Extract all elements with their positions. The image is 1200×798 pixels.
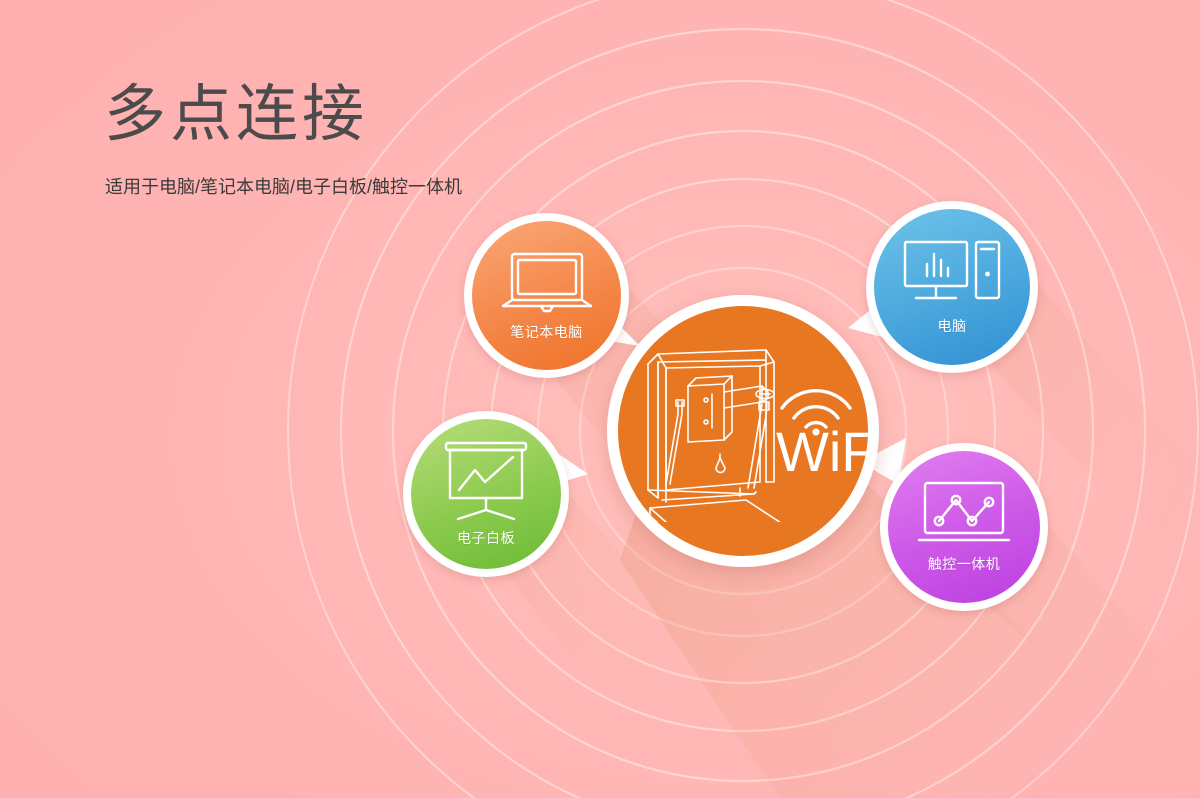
node-whiteboard-body: 电子白板 [411,419,561,569]
laptop-icon [499,250,595,316]
node-touchscreen-body: 触控一体机 [888,451,1040,603]
node-touchscreen-label: 触控一体机 [928,554,1001,574]
node-whiteboard[interactable]: 电子白板 [403,411,569,577]
desktop-computer-icon [902,238,1002,310]
node-touchscreen[interactable]: 触控一体机 [880,443,1048,611]
touch-all-in-one-icon [915,480,1013,548]
node-laptop-body: 笔记本电脑 [472,221,621,370]
wifi-label: WiFi [776,424,868,480]
poster-canvas: 多点连接 适用于电脑/笔记本电脑/电子白板/触控一体机 [0,0,1200,798]
node-pc[interactable]: 电脑 [866,201,1038,373]
node-whiteboard-label: 电子白板 [457,528,515,548]
center-node-body: WiFi [618,306,868,556]
node-laptop[interactable]: 笔记本电脑 [464,213,629,378]
node-pc-body: 电脑 [874,209,1030,365]
node-laptop-label: 笔记本电脑 [510,322,583,342]
presentation-board-icon [438,440,534,522]
page-title: 多点连接 [104,84,368,146]
node-pc-label: 电脑 [938,316,967,336]
page-subtitle: 适用于电脑/笔记本电脑/电子白板/触控一体机 [105,173,462,199]
center-node-wifi[interactable]: WiFi [607,295,879,567]
